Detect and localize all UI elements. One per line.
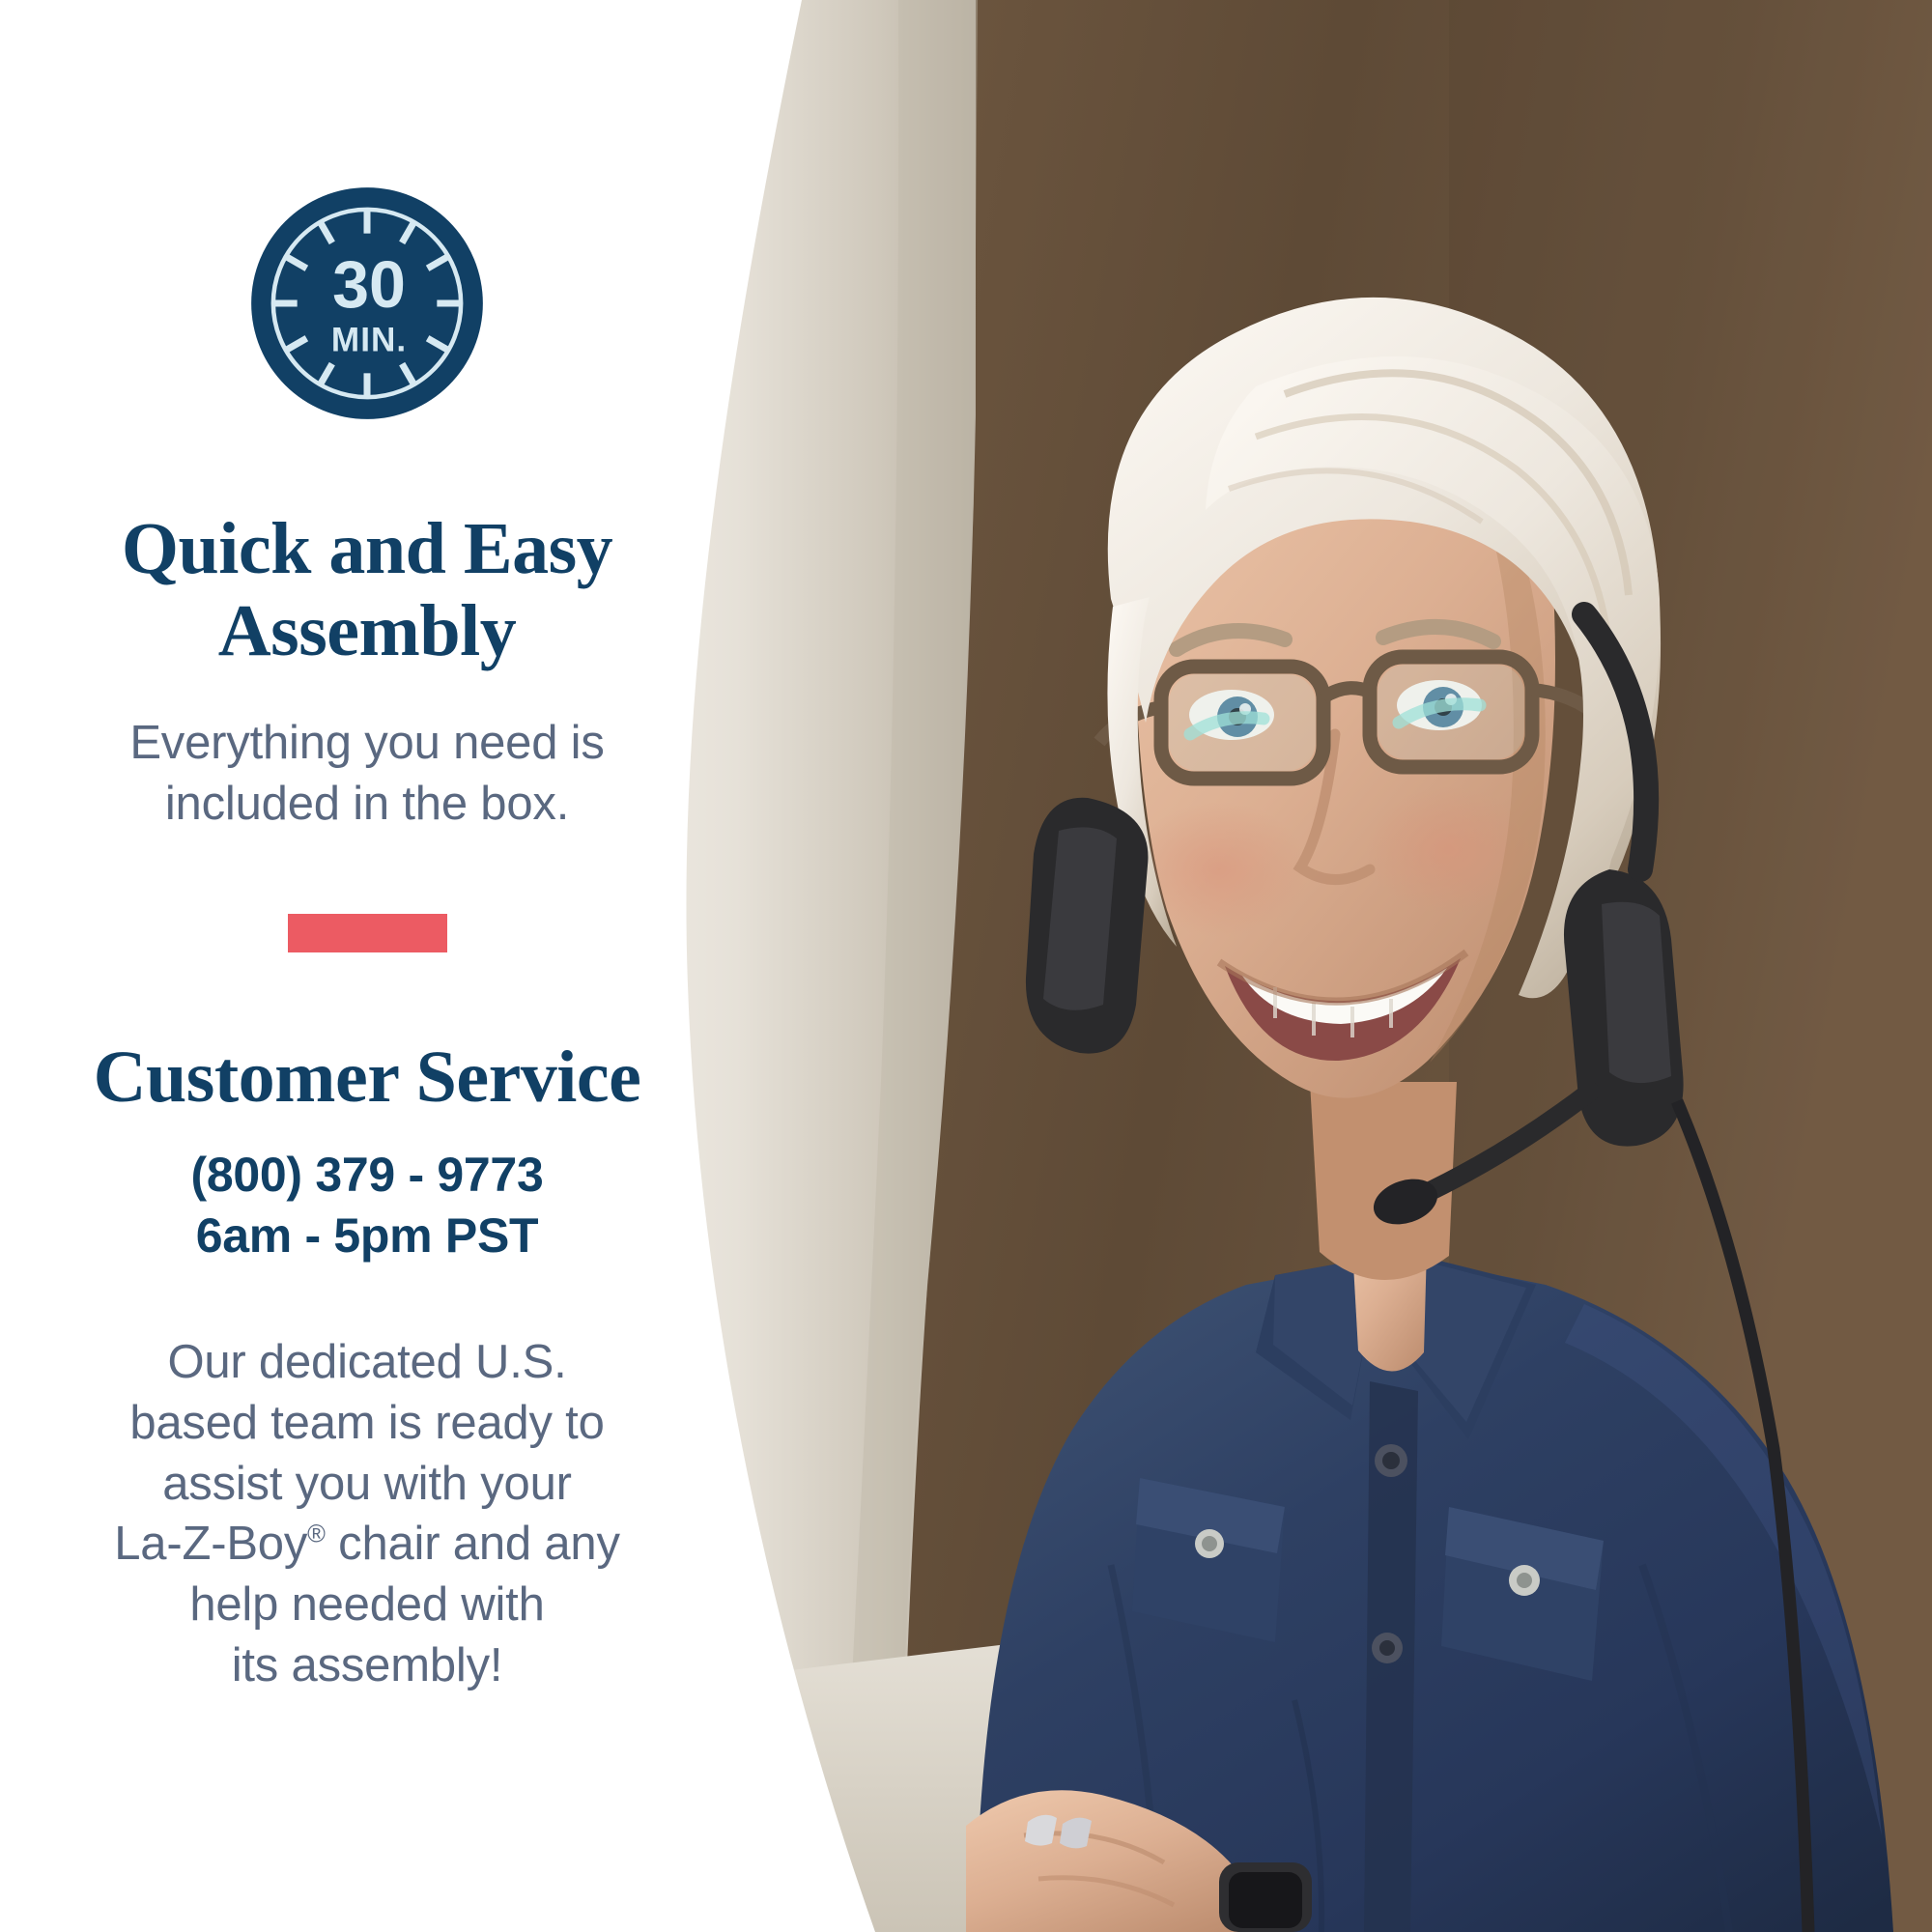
feature-body-line2: included in the box. <box>165 778 569 830</box>
customer-service-contact: (800) 379 - 9773 6am - 5pm PST <box>39 1145 696 1266</box>
support-note-line-1: Our dedicated U.S. <box>167 1336 566 1388</box>
support-hours: 6am - 5pm PST <box>196 1208 539 1263</box>
customer-service-note: Our dedicated U.S. based team is ready t… <box>53 1332 681 1695</box>
stopwatch-clock-icon: 30 MIN. <box>247 184 487 423</box>
badge-value: 30 <box>332 248 406 322</box>
support-note-line-5: help needed with <box>189 1578 544 1631</box>
red-rule-divider <box>288 914 447 952</box>
feature-body-copy: Everything you need is included in the b… <box>58 713 676 834</box>
feature-body-line1: Everything you need is <box>129 717 604 769</box>
assembly-time-badge: 30 MIN. <box>0 184 734 423</box>
support-note-brand: La-Z-Boy <box>114 1518 307 1570</box>
support-note-line-3: assist you with your <box>162 1458 572 1510</box>
customer-service-heading: Customer Service <box>29 1037 705 1119</box>
support-note-line-2: based team is ready to <box>129 1397 604 1449</box>
left-content-column: 30 MIN. Quick and Easy Assembly Everythi… <box>0 0 734 1932</box>
support-note-line-6: its assembly! <box>232 1639 503 1691</box>
support-note-line-4-tail: chair and any <box>326 1518 620 1570</box>
badge-unit: MIN. <box>331 322 407 359</box>
promo-graphic-root: 30 MIN. Quick and Easy Assembly Everythi… <box>0 0 1932 1932</box>
support-phone-number[interactable]: (800) 379 - 9773 <box>191 1148 544 1202</box>
feature-headline-line2: Assembly <box>218 590 516 671</box>
registered-trademark-icon: ® <box>307 1521 326 1548</box>
feature-headline: Quick and Easy Assembly <box>58 508 676 672</box>
feature-headline-line1: Quick and Easy <box>122 508 612 589</box>
divider-wrap <box>0 914 734 952</box>
